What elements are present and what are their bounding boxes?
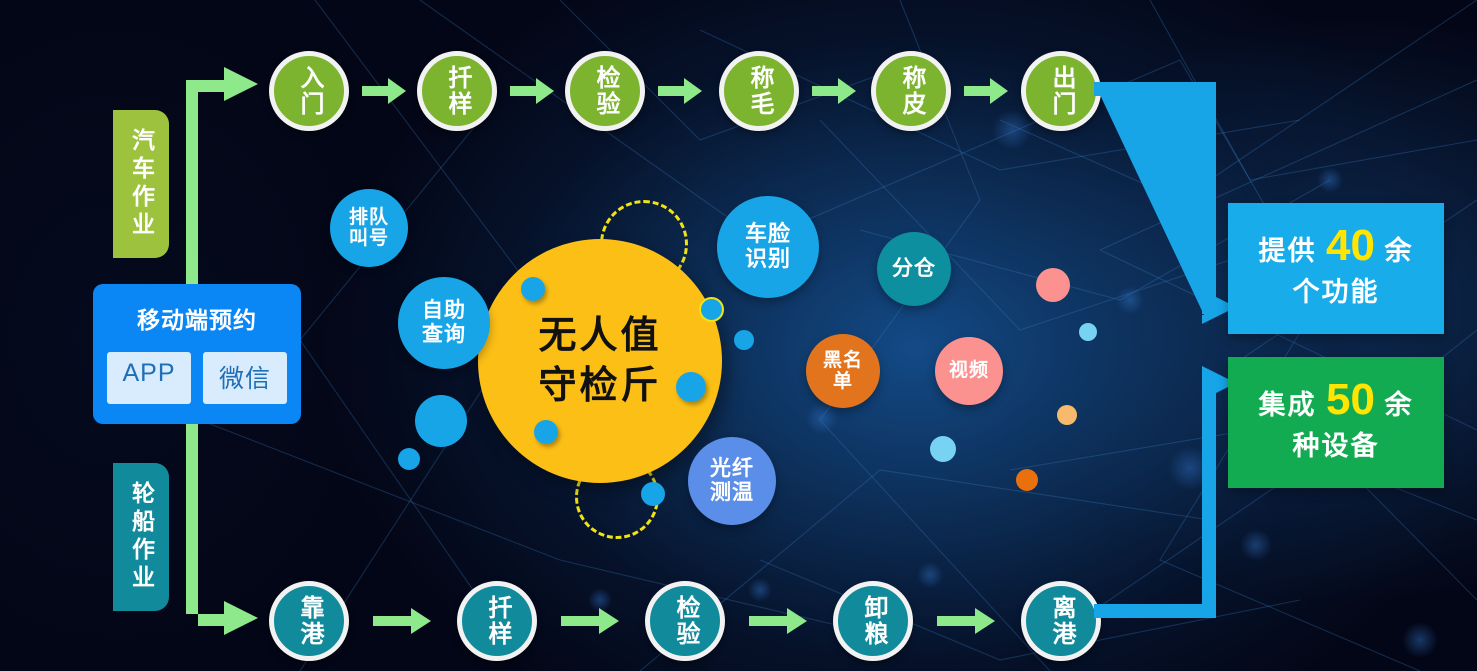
mobile-reservation-card: 移动端预约 APP 微信 <box>93 284 301 424</box>
ship-arrow-1 <box>373 608 431 634</box>
feature-bubble-blacklist[interactable]: 黑名单 <box>806 334 880 408</box>
vehicle-step-3-label: 检验 <box>592 65 618 117</box>
lane-tab-ship[interactable]: 轮船作业 <box>113 463 169 611</box>
vehicle-arrow-5 <box>964 78 1008 104</box>
ambient-dot-lightblue-1 <box>1079 323 1097 341</box>
decorative-dot-on-core-3 <box>676 372 706 402</box>
ship-result-connector-arrow <box>1094 358 1244 622</box>
decorative-dot-on-core-1 <box>521 277 545 301</box>
ship-step-2-label: 扦样 <box>484 595 510 647</box>
vehicle-result-connector-arrow <box>1094 78 1244 342</box>
ship-arrow-3 <box>749 608 807 634</box>
feature-bubble-queue[interactable]: 排队叫号 <box>330 189 408 267</box>
ship-step-4[interactable]: 卸粮 <box>833 581 913 661</box>
ship-step-4-label: 卸粮 <box>860 595 886 647</box>
core-line-1: 无人值 <box>538 315 661 357</box>
mobile-reservation-title: 移动端预约 <box>107 301 287 335</box>
ship-lane-connector-arrow <box>178 420 268 635</box>
vehicle-arrow-3 <box>658 78 702 104</box>
result-card-functions: 提供 40 余 个功能 <box>1228 203 1444 334</box>
feature-bubble-binning-label: 分仓 <box>892 257 936 281</box>
vehicle-arrow-1 <box>362 78 406 104</box>
ambient-dot-pink-1 <box>1036 268 1070 302</box>
core-line-2: 守检斤 <box>538 365 661 407</box>
vehicle-step-1[interactable]: 入门 <box>269 51 349 131</box>
result-card-devices-text: 集成 50 余 种设备 <box>1259 379 1414 467</box>
result-functions-prefix: 提供 <box>1259 236 1317 266</box>
vehicle-step-5[interactable]: 称皮 <box>871 51 951 131</box>
infographic-canvas: 汽车作业 轮船作业 移动端预约 APP 微信 入门 扦样 检验 称毛 称皮 出门… <box>0 0 1477 671</box>
core-concept-circle: 无人值守检斤 <box>478 239 722 483</box>
ship-arrow-2 <box>561 608 619 634</box>
vehicle-lane-connector-arrow <box>178 58 268 293</box>
ship-step-3-label: 检验 <box>672 595 698 647</box>
ship-step-3[interactable]: 检验 <box>645 581 725 661</box>
vehicle-step-6[interactable]: 出门 <box>1021 51 1101 131</box>
feature-bubble-binning[interactable]: 分仓 <box>877 232 951 306</box>
feature-bubble-fibertemp-label: 光纤测温 <box>710 457 754 504</box>
vehicle-step-5-label: 称皮 <box>898 65 924 117</box>
result-devices-second-line: 种设备 <box>1292 431 1379 461</box>
ambient-dot-orange-strong <box>1016 469 1038 491</box>
mobile-channel-wechat-button[interactable]: 微信 <box>203 352 287 404</box>
feature-bubble-fibertemp[interactable]: 光纤测温 <box>688 437 776 525</box>
vehicle-step-3[interactable]: 检验 <box>565 51 645 131</box>
ship-step-1[interactable]: 靠港 <box>269 581 349 661</box>
feature-bubble-selfservice-label: 自助查询 <box>422 299 466 346</box>
ship-arrow-4 <box>937 608 995 634</box>
decorative-dot-blue-1 <box>415 395 467 447</box>
vehicle-step-1-label: 入门 <box>296 65 322 117</box>
result-devices-suffix: 余 <box>1384 390 1413 420</box>
feature-bubble-selfservice[interactable]: 自助查询 <box>398 277 490 369</box>
feature-bubble-vehicleface-label: 车脸识别 <box>745 222 791 271</box>
ambient-dot-lightblue-2 <box>930 436 956 462</box>
result-devices-prefix: 集成 <box>1259 390 1317 420</box>
vehicle-arrow-2 <box>510 78 554 104</box>
decorative-dot-blue-3 <box>734 330 754 350</box>
vehicle-step-2[interactable]: 扦样 <box>417 51 497 131</box>
vehicle-step-4[interactable]: 称毛 <box>719 51 799 131</box>
ship-step-5[interactable]: 离港 <box>1021 581 1101 661</box>
decorative-dot-blue-2 <box>398 448 420 470</box>
decorative-dot-outlined <box>699 297 724 322</box>
vehicle-arrow-4 <box>812 78 856 104</box>
mobile-channel-app-button[interactable]: APP <box>107 352 191 404</box>
core-concept-text: 无人值守检斤 <box>538 311 661 411</box>
result-card-functions-text: 提供 40 余 个功能 <box>1259 225 1414 313</box>
feature-bubble-queue-label: 排队叫号 <box>349 207 389 250</box>
lane-tab-ship-label: 轮船作业 <box>126 481 157 593</box>
vehicle-step-2-label: 扦样 <box>444 65 470 117</box>
ship-step-1-label: 靠港 <box>296 595 322 647</box>
ship-step-2[interactable]: 扦样 <box>457 581 537 661</box>
mobile-channel-row: APP 微信 <box>107 352 287 404</box>
result-functions-second-line: 个功能 <box>1292 277 1379 307</box>
ship-step-5-label: 离港 <box>1048 595 1074 647</box>
lane-tab-vehicle-label: 汽车作业 <box>126 128 157 240</box>
feature-bubble-blacklist-label: 黑名单 <box>823 350 863 393</box>
decorative-dot-on-core-2 <box>534 420 558 444</box>
feature-bubble-video[interactable]: 视频 <box>935 337 1003 405</box>
feature-bubble-video-label: 视频 <box>949 360 989 381</box>
ambient-dot-orange-light <box>1057 405 1077 425</box>
vehicle-step-6-label: 出门 <box>1048 65 1074 117</box>
feature-bubble-vehicleface[interactable]: 车脸识别 <box>717 196 819 298</box>
result-card-devices: 集成 50 余 种设备 <box>1228 357 1444 488</box>
result-devices-number: 50 <box>1326 375 1375 424</box>
decorative-dot-blue-4 <box>641 482 665 506</box>
vehicle-step-4-label: 称毛 <box>746 65 772 117</box>
lane-tab-vehicle[interactable]: 汽车作业 <box>113 110 169 258</box>
result-functions-suffix: 余 <box>1384 236 1413 266</box>
result-functions-number: 40 <box>1326 221 1375 270</box>
